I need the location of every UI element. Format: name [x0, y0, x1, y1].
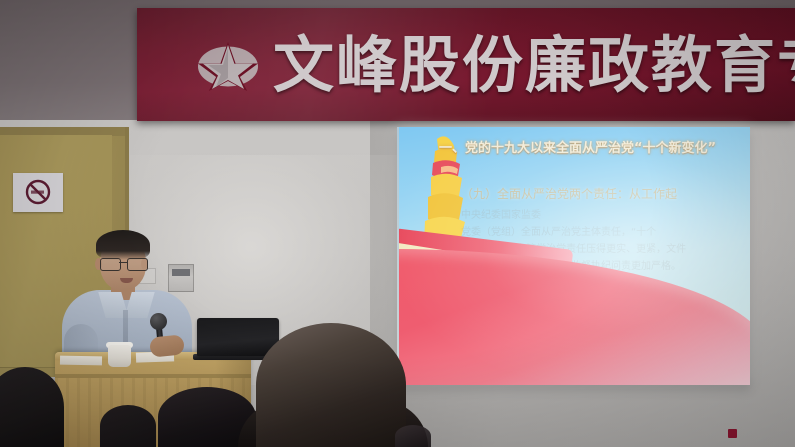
- background-red-object: [728, 429, 737, 438]
- red-hall-banner: 文峰股份廉政教育专题: [137, 8, 795, 121]
- lecture-scene: 文峰股份廉政教育专题 一、党的十九大以来全面从严治党“十个新变化” （九）全面从…: [0, 0, 795, 447]
- paper-cup-icon: [108, 345, 131, 367]
- audience-head: [256, 323, 406, 447]
- glasses-icon: [100, 258, 148, 269]
- banner-content-row: 文峰股份廉政教育专题: [197, 30, 795, 102]
- projection-screen: 一、党的十九大以来全面从严治党“十个新变化” （九）全面从严治党两个责任：从工作…: [397, 127, 750, 385]
- no-smoking-icon: [23, 178, 53, 206]
- wenfeng-star-oval-logo: [197, 39, 259, 94]
- banner-title: 文峰股份廉政教育专题: [273, 35, 795, 97]
- presenter-hair: [96, 230, 150, 260]
- podium-documents: [60, 356, 102, 366]
- audience-head: [395, 425, 431, 447]
- slide-subtitle: （九）全面从严治党两个责任：从工作起: [461, 187, 750, 202]
- audience-head: [100, 405, 156, 447]
- slide-title: 一、党的十九大以来全面从严治党“十个新变化”: [439, 141, 749, 157]
- slide-body-line: 中央纪委国家监委: [461, 207, 746, 224]
- no-smoking-sign: [13, 173, 63, 212]
- slide-body-line: 党委（党组）全面从严治党主体责任，“十个: [461, 224, 746, 241]
